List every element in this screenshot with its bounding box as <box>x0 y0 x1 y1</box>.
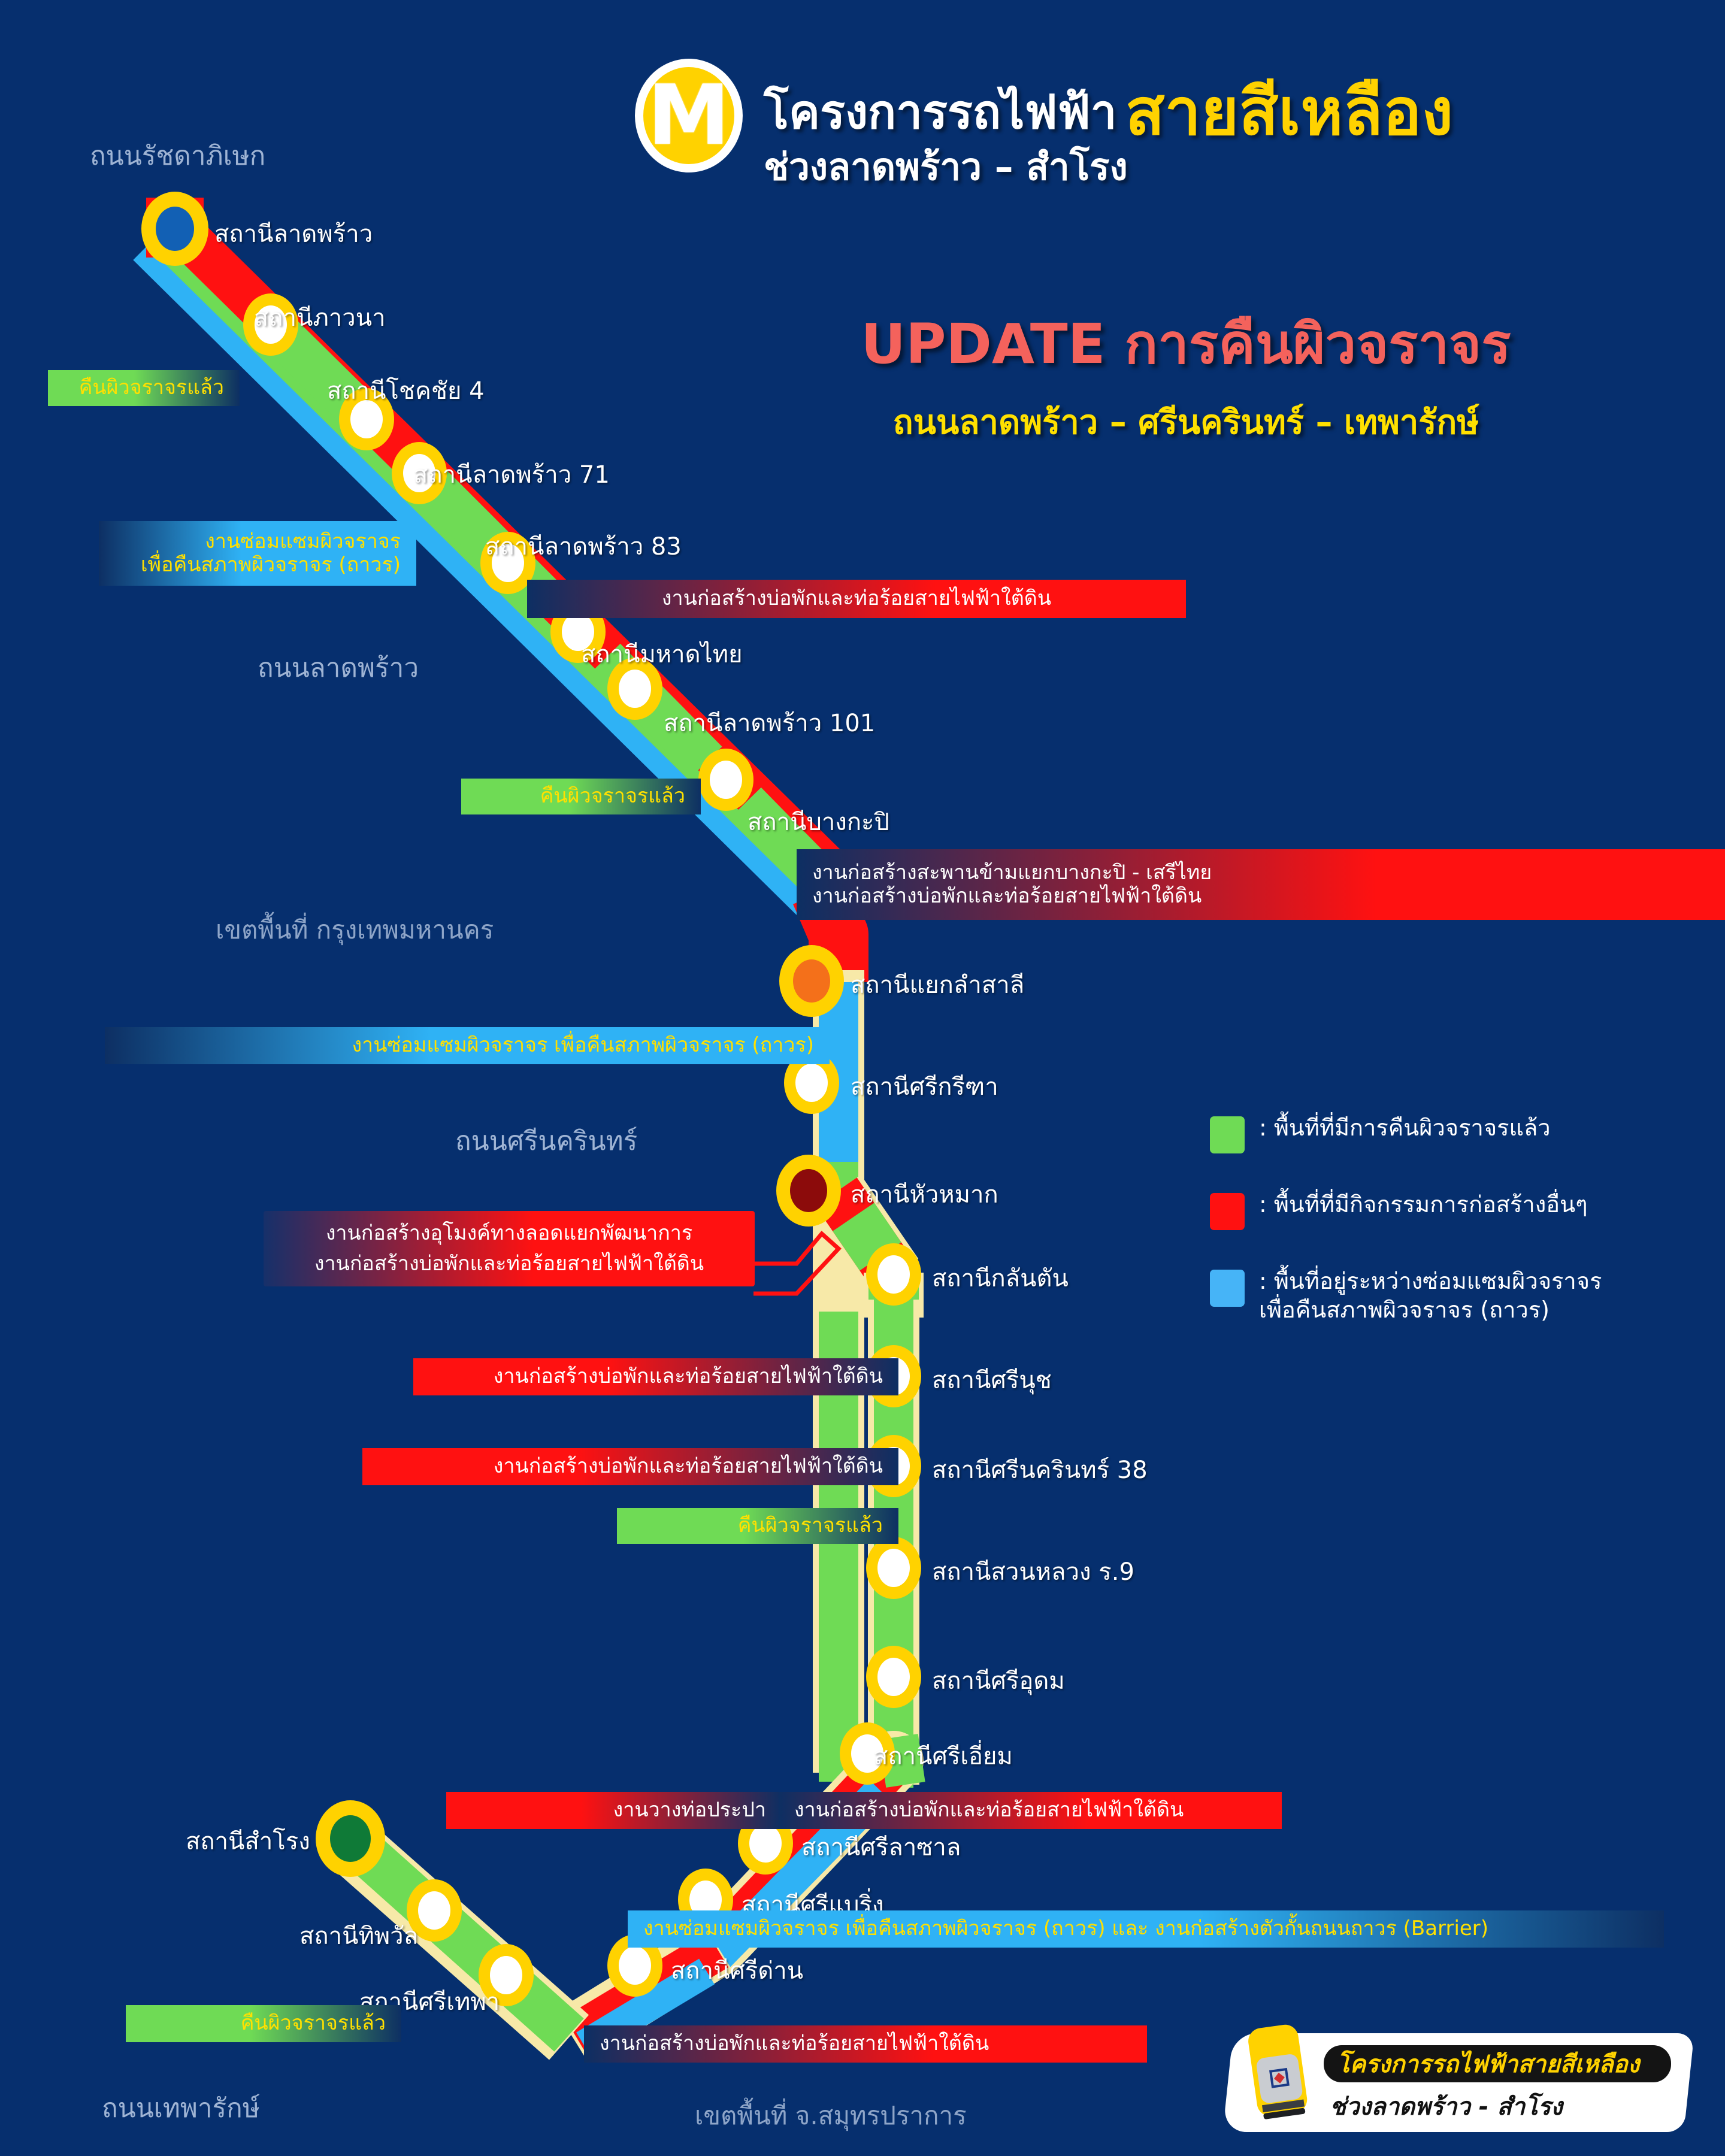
ribbon-waterpipe: งานวางท่อประปา <box>446 1792 782 1829</box>
station-label-huamak: สถานีหัวหมาก <box>851 1175 998 1213</box>
station-label-phawana: สถานีภาวนา <box>254 298 386 337</box>
road-label-theparak: ถนนเทพารักษ์ <box>102 2087 260 2129</box>
legend-label-repair-line1: : พื้นที่อยู่ระหว่างซ่อมแซมผิวจราจร <box>1259 1267 1602 1296</box>
station-label-bangkapi: สถานีบางกะปิ <box>747 803 889 841</box>
ribbon-construction-1: งานก่อสร้างบ่อพักและท่อร้อยสายไฟฟ้าใต้ดิ… <box>527 580 1186 618</box>
station-label-kalantan: สถานีกลันตัน <box>932 1259 1069 1297</box>
ribbon-repair-1: งานซ่อมแซมผิวจราจร เพื่อคืนสภาพผิวจราจร … <box>99 521 416 586</box>
station-label-mahatthai: สถานีมหาดไทย <box>581 635 743 673</box>
station-marker <box>779 945 844 1017</box>
station-label-ladprao71: สถานีลาดพร้าว 71 <box>413 455 610 493</box>
station-marker <box>776 1155 841 1227</box>
badge-title-bar: โครงการรถไฟฟ้าสายสีเหลือง <box>1324 2045 1671 2082</box>
road-label-ratchadaphisek: ถนนรัชดาภิเษก <box>90 135 265 177</box>
legend-label-repair: : พื้นที่อยู่ระหว่างซ่อมแซมผิวจราจร เพื่… <box>1259 1267 1602 1324</box>
station-marker <box>698 749 753 811</box>
legend-label-restored: : พื้นที่ที่มีการคืนผิวจราจรแล้ว <box>1259 1114 1551 1143</box>
legend-row-restored: : พื้นที่ที่มีการคืนผิวจราจรแล้ว <box>1210 1114 1719 1153</box>
legend-row-construction: : พื้นที่ที่มีกิจกรรมการก่อสร้างอื่นๆ <box>1210 1191 1719 1230</box>
station-label-chokchai4: สถานีโชคชัย 4 <box>327 371 485 410</box>
ribbon-construction-4: งานก่อสร้างบ่อพักและท่อร้อยสายไฟฟ้าใต้ดิ… <box>362 1448 898 1485</box>
station-label-srinakarin38: สถานีศรีนครินทร์ 38 <box>932 1451 1148 1489</box>
ribbon-construction-5: งานก่อสร้างบ่อพักและท่อร้อยสายไฟฟ้าใต้ดิ… <box>779 1792 1282 1829</box>
station-label-samrong: สถานีสำโรง <box>186 1822 310 1860</box>
station-label-ladprao101: สถานีลาดพร้าว 101 <box>664 704 875 742</box>
legend-label-construction: : พื้นที่ที่มีกิจกรรมการก่อสร้างอื่นๆ <box>1259 1191 1588 1219</box>
road-label-ladprao: ถนนลาดพร้าว <box>258 647 419 689</box>
ribbon-restored-3: คืนผิวจราจรแล้ว <box>617 1508 898 1544</box>
ribbon-construction-6: งานก่อสร้างบ่อพักและท่อร้อยสายไฟฟ้าใต้ดิ… <box>584 2025 1147 2063</box>
station-label-ladprao: สถานีลาดพร้าว <box>214 214 373 253</box>
station-label-sidan: สถานีศรีด่าน <box>671 1951 803 1990</box>
legend: : พื้นที่ที่มีการคืนผิวจราจรแล้ว : พื้นท… <box>1210 1114 1719 1361</box>
ribbon-repair-2: งานซ่อมแซมผิวจราจร เพื่อคืนสภาพผิวจราจร … <box>105 1027 830 1064</box>
train-icon <box>1240 2024 1317 2124</box>
station-label-silasan: สถานีศรีลาซาล <box>801 1828 961 1866</box>
zone-label-bangkok: เขตพื้นที่ กรุงเทพมหานคร <box>216 910 494 950</box>
badge-inner: โครงการรถไฟฟ้าสายสีเหลือง ช่วงลาดพร้าว -… <box>1228 2033 1689 2132</box>
station-label-lamsali: สถานีแยกลำสาลี <box>851 965 1024 1004</box>
legend-swatch-blue <box>1210 1270 1245 1307</box>
ribbon-restored-2: คืนผิวจราจรแล้ว <box>461 779 701 814</box>
callout-tunnel-pattanakarn: งานก่อสร้างอุโมงค์ทางลอดแยกพัฒนาการ งานก… <box>264 1211 755 1286</box>
station-marker <box>866 1537 921 1599</box>
station-label-thipphawan: สถานีทิพวัล <box>299 1916 418 1955</box>
ribbon-restored-1: คืนผิวจราจรแล้ว <box>48 370 240 406</box>
legend-swatch-green <box>1210 1116 1245 1153</box>
infographic-canvas: M โครงการรถไฟฟ้าสายสีเหลือง ช่วงลาดพร้าว… <box>0 0 1725 2156</box>
station-label-siiam: สถานีศรีเอี่ยม <box>873 1737 1013 1775</box>
legend-row-repair: : พื้นที่อยู่ระหว่างซ่อมแซมผิวจราจร เพื่… <box>1210 1267 1719 1324</box>
station-label-sinut: สถานีศรีนุช <box>932 1361 1052 1399</box>
badge-title: โครงการรถไฟฟ้าสายสีเหลือง <box>1324 2045 1639 2083</box>
brand-badge: โครงการรถไฟฟ้าสายสีเหลือง ช่วงลาดพร้าว -… <box>1228 2033 1689 2132</box>
ribbon-repair-barrier: งานซ่อมแซมผิวจราจร เพื่อคืนสภาพผิวจราจร … <box>628 1910 1664 1948</box>
road-label-srinakarin: ถนนศรีนครินทร์ <box>455 1120 637 1162</box>
station-label-suanluang-r9: สถานีสวนหลวง ร.9 <box>932 1552 1134 1591</box>
badge-subtitle: ช่วงลาดพร้าว - สำโรง <box>1330 2087 1563 2125</box>
station-label-siudom: สถานีศรีอุดม <box>932 1661 1065 1700</box>
station-marker <box>866 1243 921 1306</box>
station-label-ladprao83: สถานีลาดพร้าว 83 <box>485 527 682 565</box>
legend-label-repair-line2: เพื่อคืนสภาพผิวจราจร (ถาวร) <box>1259 1296 1602 1325</box>
station-marker <box>316 1800 385 1877</box>
legend-swatch-red <box>1210 1193 1245 1230</box>
station-label-sikritha: สถานีศรีกรีฑา <box>851 1067 998 1106</box>
zone-label-samutprakan: เขตพื้นที่ จ.สมุทรปราการ <box>695 2096 967 2136</box>
ribbon-construction-3: งานก่อสร้างบ่อพักและท่อร้อยสายไฟฟ้าใต้ดิ… <box>413 1358 898 1395</box>
station-marker <box>866 1646 921 1708</box>
station-marker <box>141 192 208 266</box>
ribbon-restored-4: คืนผิวจราจรแล้ว <box>126 2005 401 2042</box>
ribbon-construction-2: งานก่อสร้างสะพานข้ามแยกบางกะปิ - เสรีไทย… <box>797 849 1725 920</box>
